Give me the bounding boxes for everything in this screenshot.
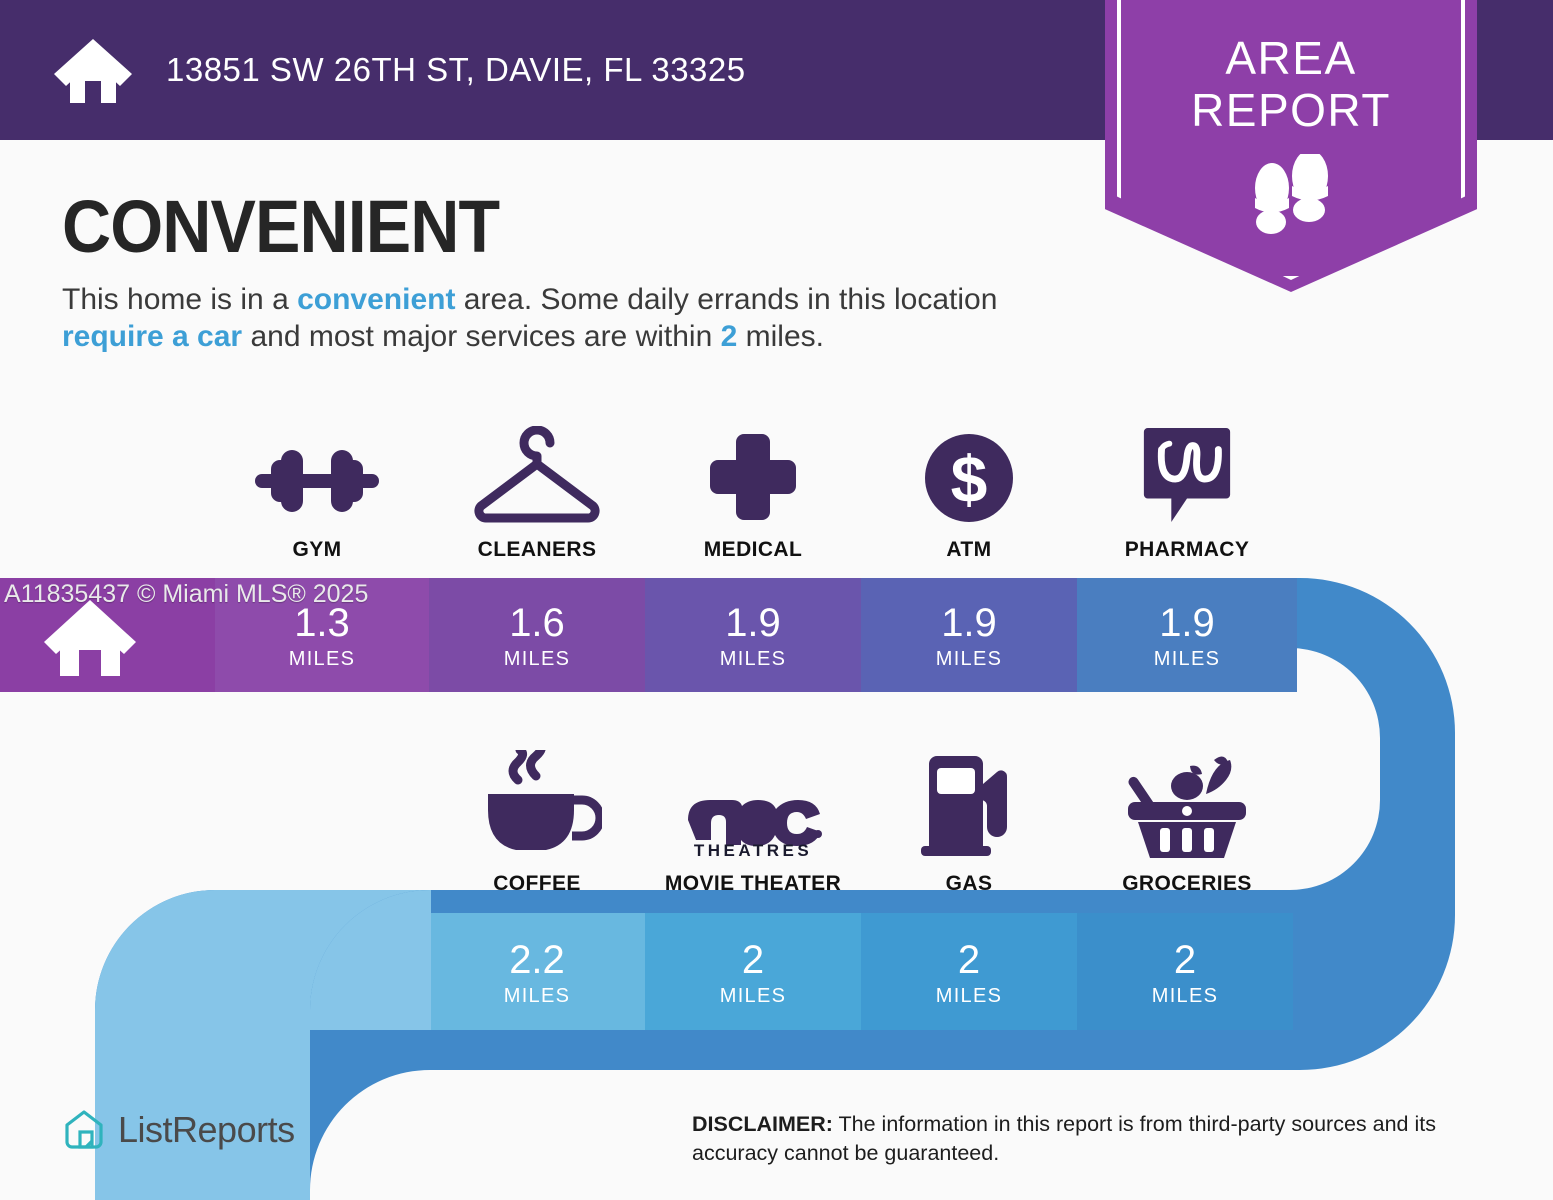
home-icon bbox=[52, 37, 134, 103]
distance-cell-movie-theater: 2 MILES bbox=[645, 915, 861, 1030]
amenity-label: MOVIE THEATER bbox=[645, 872, 861, 896]
badge-title: AREA REPORT bbox=[1105, 32, 1477, 136]
summary-highlight-miles: 2 bbox=[721, 320, 738, 353]
distance-unit: MILES bbox=[645, 985, 861, 1008]
distance-cell-gas: 2 MILES bbox=[861, 915, 1077, 1030]
distance-value: 2 bbox=[1077, 939, 1293, 981]
amc-theatres-icon: THEATRES bbox=[645, 752, 861, 860]
coffee-cup-icon bbox=[429, 752, 645, 860]
distance-cell-pharmacy: 1.9 MILES bbox=[1077, 578, 1297, 692]
distance-unit: MILES bbox=[1077, 648, 1297, 671]
distance-cell-coffee: 2.2 MILES bbox=[429, 915, 645, 1030]
walgreens-w-icon bbox=[1079, 418, 1295, 526]
distance-unit: MILES bbox=[429, 985, 645, 1008]
amenity-label: CLEANERS bbox=[429, 538, 645, 562]
amenity-label: GYM bbox=[209, 538, 425, 562]
hanger-icon bbox=[429, 418, 645, 526]
distance-unit: MILES bbox=[861, 985, 1077, 1008]
mls-watermark: A11835437 © Miami MLS® 2025 bbox=[4, 580, 368, 609]
amenity-groceries: GROCERIES bbox=[1079, 752, 1295, 896]
amenity-pharmacy: PHARMACY bbox=[1079, 418, 1295, 562]
distance-value: 2.2 bbox=[429, 939, 645, 981]
amenity-gas: GAS bbox=[861, 752, 1077, 896]
summary-part-2: area. Some daily errands in this locatio… bbox=[455, 283, 997, 316]
amenity-medical: MEDICAL bbox=[645, 418, 861, 562]
summary-part-1: This home is in a bbox=[62, 283, 297, 316]
amenity-cleaners: CLEANERS bbox=[429, 418, 645, 562]
amenity-label: COFFEE bbox=[429, 872, 645, 896]
amenity-label: MEDICAL bbox=[645, 538, 861, 562]
footprints-icon bbox=[1105, 154, 1477, 244]
distance-unit: MILES bbox=[861, 648, 1077, 671]
distance-unit: MILES bbox=[215, 648, 429, 671]
badge-line-2: REPORT bbox=[1105, 84, 1477, 136]
amenity-label: PHARMACY bbox=[1079, 538, 1295, 562]
amenity-label: GROCERIES bbox=[1079, 872, 1295, 896]
distance-value: 2 bbox=[861, 939, 1077, 981]
dollar-circle-icon: $ bbox=[861, 418, 1077, 526]
medical-cross-icon bbox=[645, 418, 861, 526]
distance-value: 2 bbox=[645, 939, 861, 981]
distance-value: 1.9 bbox=[1077, 602, 1297, 644]
page-title: CONVENIENT bbox=[62, 184, 499, 269]
svg-text:$: $ bbox=[951, 442, 988, 516]
listreports-wordmark: ListReports bbox=[118, 1109, 295, 1151]
disclaimer: DISCLAIMER: The information in this repo… bbox=[692, 1110, 1502, 1168]
fuel-pump-icon bbox=[861, 752, 1077, 860]
listreports-logo: ListReports bbox=[62, 1108, 295, 1152]
summary-text: This home is in a convenient area. Some … bbox=[62, 281, 1072, 355]
property-address: 13851 SW 26TH ST, DAVIE, FL 33325 bbox=[166, 51, 746, 89]
distance-cell-groceries: 2 MILES bbox=[1077, 915, 1293, 1030]
summary-highlight-convenient: convenient bbox=[297, 283, 455, 316]
distance-unit: MILES bbox=[1077, 985, 1293, 1008]
listreports-house-icon bbox=[62, 1108, 106, 1152]
distance-value: 1.6 bbox=[429, 602, 645, 644]
distance-value: 1.9 bbox=[861, 602, 1077, 644]
area-report-page: 13851 SW 26TH ST, DAVIE, FL 33325 AREA R… bbox=[0, 0, 1553, 1200]
disclaimer-label: DISCLAIMER: bbox=[692, 1112, 833, 1136]
distance-value: 1.9 bbox=[645, 602, 861, 644]
dumbbell-icon bbox=[209, 418, 425, 526]
amenity-gym: GYM bbox=[209, 418, 425, 562]
distance-cell-medical: 1.9 MILES bbox=[645, 578, 861, 692]
amenity-label: ATM bbox=[861, 538, 1077, 562]
distance-unit: MILES bbox=[645, 648, 861, 671]
distance-unit: MILES bbox=[429, 648, 645, 671]
distance-cell-atm: 1.9 MILES bbox=[861, 578, 1077, 692]
amenity-movie-theater: THEATRES MOVIE THEATER bbox=[645, 752, 861, 896]
distance-cell-cleaners: 1.6 MILES bbox=[429, 578, 645, 692]
svg-text:THEATRES: THEATRES bbox=[694, 841, 812, 860]
summary-highlight-require-car: require a car bbox=[62, 320, 242, 353]
summary-part-3: and most major services are within bbox=[242, 320, 721, 353]
summary-part-4: miles. bbox=[737, 320, 824, 353]
amenity-label: GAS bbox=[861, 872, 1077, 896]
area-report-badge: AREA REPORT bbox=[1105, 0, 1477, 292]
amenity-atm: $ ATM bbox=[861, 418, 1077, 562]
grocery-basket-icon bbox=[1079, 752, 1295, 860]
badge-line-1: AREA bbox=[1105, 32, 1477, 84]
amenity-coffee: COFFEE bbox=[429, 752, 645, 896]
